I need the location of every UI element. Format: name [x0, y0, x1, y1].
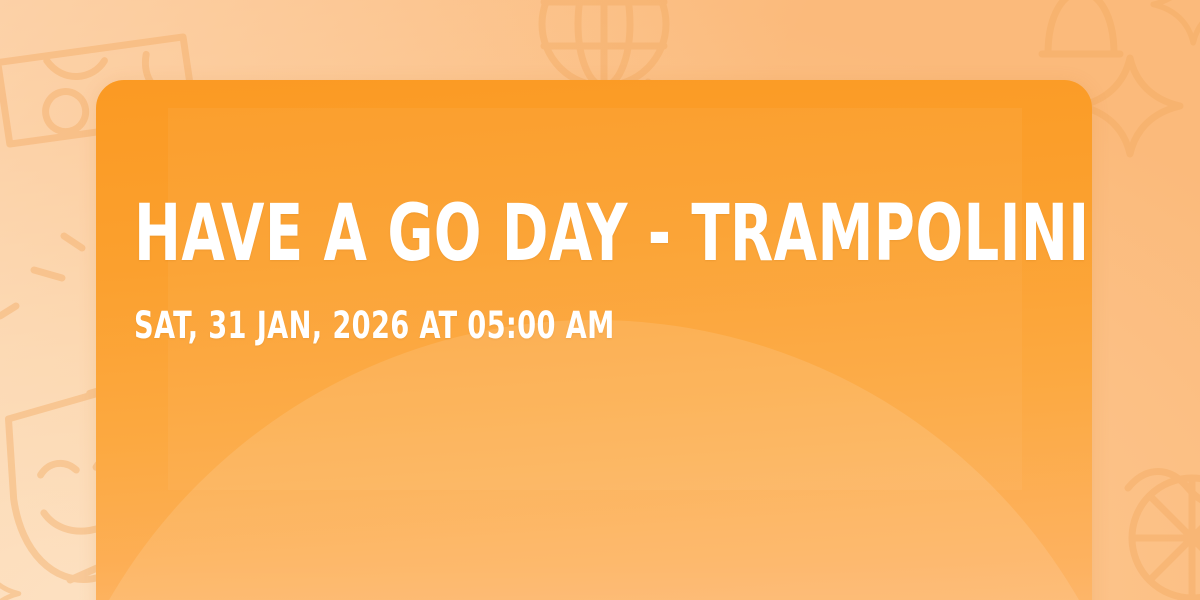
balloon-icon: [1132, 478, 1200, 598]
card-bottom-wash: [96, 562, 1092, 600]
sparkle-icon: [0, 560, 19, 600]
confetti-dash-icon: [64, 236, 82, 248]
globe-icon: [542, 0, 666, 86]
event-card-content: Have a go day - Trampolining Sat, 31 Jan…: [134, 198, 1054, 344]
confetti-dash-icon: [34, 270, 62, 278]
event-card: Have a go day - Trampolining Sat, 31 Jan…: [96, 80, 1092, 600]
banner-stage: Have a go day - Trampolining Sat, 31 Jan…: [0, 0, 1200, 600]
event-title: Have a go day - Trampolining: [134, 198, 870, 271]
confetti-dash-icon: [0, 306, 16, 316]
sparkle-icon: [1153, 0, 1200, 43]
event-datetime: Sat, 31 Jan, 2026 at 05:00 AM: [134, 307, 888, 344]
sparkle-icon: [1080, 58, 1180, 154]
lantern-icon: [1042, 0, 1120, 54]
